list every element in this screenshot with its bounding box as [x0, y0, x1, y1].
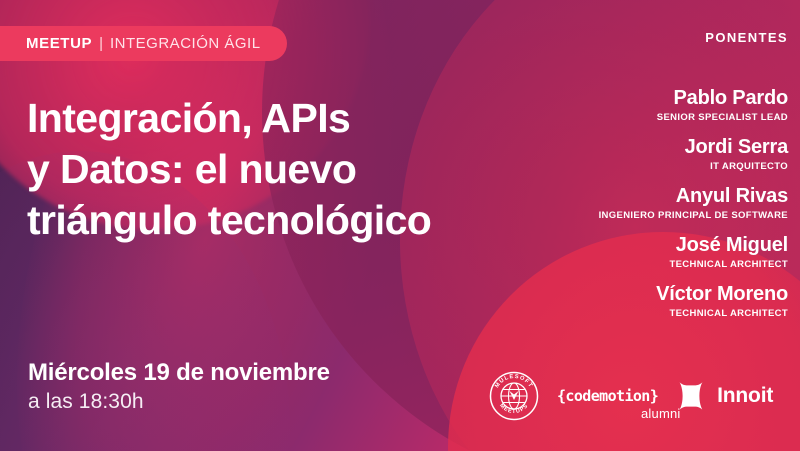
- speaker-role: TECHNICAL ARCHITECT: [458, 308, 788, 319]
- speaker-role: TECHNICAL ARCHITECT: [458, 259, 788, 270]
- meetup-badge: MEETUP | INTEGRACIÓN ÁGIL: [0, 26, 287, 61]
- mulesoft-meetups-logo-icon: MULESOFT MEETUPS: [489, 371, 539, 421]
- event-date: Miércoles 19 de noviembre: [28, 358, 330, 388]
- event-time: a las 18:30h: [28, 388, 330, 416]
- speaker-item: Jordi Serra IT ARQUITECTO: [458, 136, 788, 172]
- speaker-item: Pablo Pardo SENIOR SPECIALIST LEAD: [458, 87, 788, 123]
- innoit-logo: Innoit: [674, 380, 773, 412]
- event-banner: MEETUP | INTEGRACIÓN ÁGIL Integración, A…: [0, 0, 800, 451]
- speaker-name: Víctor Moreno: [458, 283, 788, 306]
- speaker-item: Víctor Moreno TECHNICAL ARCHITECT: [458, 283, 788, 319]
- codemotion-alumni-label: alumni: [641, 406, 681, 421]
- speaker-name: Jordi Serra: [458, 136, 788, 159]
- meetup-badge-light-label: INTEGRACIÓN ÁGIL: [110, 35, 261, 52]
- event-date-block: Miércoles 19 de noviembre a las 18:30h: [28, 358, 330, 416]
- meetup-badge-strong-label: MEETUP: [26, 35, 92, 52]
- speaker-role: INGENIERO PRINCIPAL DE SOFTWARE: [458, 210, 788, 221]
- speaker-item: Anyul Rivas INGENIERO PRINCIPAL DE SOFTW…: [458, 185, 788, 221]
- speaker-name: Pablo Pardo: [458, 87, 788, 110]
- speaker-name: Anyul Rivas: [458, 185, 788, 208]
- sponsor-logo-strip: MULESOFT MEETUPS {codemotion} Innoit alu…: [489, 368, 789, 424]
- speaker-name: José Miguel: [458, 234, 788, 257]
- speakers-panel: PONENTES Pablo Pardo SENIOR SPECIALIST L…: [458, 30, 788, 319]
- codemotion-logo: {codemotion}: [557, 387, 658, 405]
- codemotion-wordmark: {codemotion}: [557, 387, 658, 405]
- meetup-badge-separator: |: [99, 35, 103, 52]
- speaker-item: José Miguel TECHNICAL ARCHITECT: [458, 234, 788, 270]
- speakers-heading: PONENTES: [458, 30, 788, 45]
- speaker-role: SENIOR SPECIALIST LEAD: [458, 112, 788, 123]
- speaker-role: IT ARQUITECTO: [458, 161, 788, 172]
- innoit-wordmark: Innoit: [717, 384, 773, 408]
